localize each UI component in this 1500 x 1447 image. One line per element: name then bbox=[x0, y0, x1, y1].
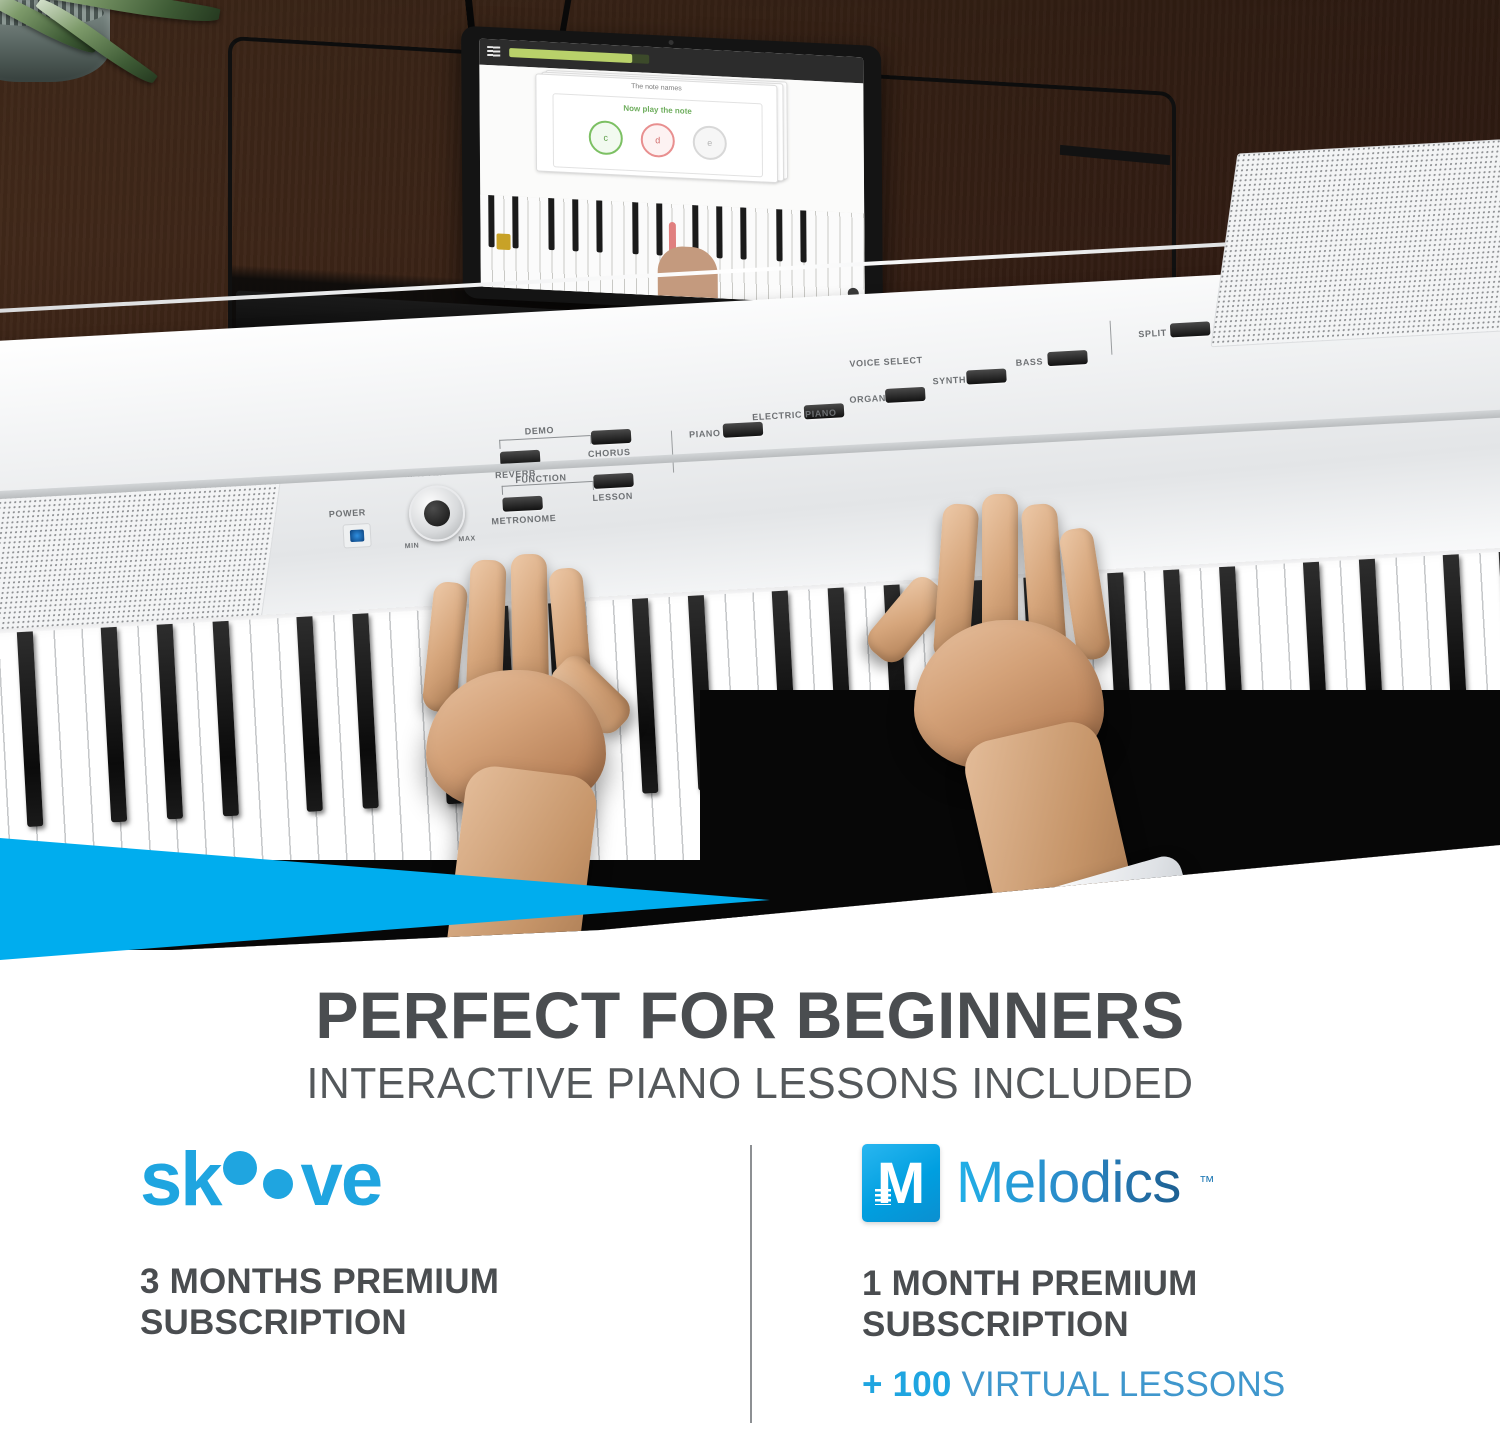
skoove-logo-text-end: ve bbox=[301, 1142, 382, 1218]
split-label: SPLIT bbox=[1138, 328, 1167, 340]
text-content: PERFECT FOR BEGINNERS INTERACTIVE PIANO … bbox=[0, 960, 1500, 1447]
skoove-logo-dots bbox=[223, 1151, 297, 1201]
chorus-button[interactable] bbox=[591, 429, 632, 445]
skoove-offer-description: 3 MONTHS PREMIUM SUBSCRIPTION bbox=[140, 1262, 780, 1344]
page-subtitle: INTERACTIVE PIANO LESSONS INCLUDED bbox=[23, 1062, 1478, 1106]
melodics-bonus-line: + 100 VIRTUAL LESSONS bbox=[862, 1366, 1500, 1405]
skoove-logo-text-start: sk bbox=[140, 1142, 221, 1218]
product-photo: The note names Now play the note c d e bbox=[0, 0, 1500, 950]
melodics-logo-mark-icon: M bbox=[862, 1144, 940, 1222]
melodics-logo: M Melodics ™ bbox=[862, 1140, 1215, 1236]
lesson-button[interactable] bbox=[593, 473, 634, 489]
voice-label-organ: ORGAN bbox=[849, 393, 886, 405]
melodics-wordmark: Melodics bbox=[956, 1154, 1181, 1212]
voice-button-bass[interactable] bbox=[1047, 350, 1088, 366]
lesson-prompt-text: Now play the note bbox=[554, 100, 762, 119]
melodics-bonus-count: 100 bbox=[893, 1365, 952, 1404]
demo-label: DEMO bbox=[524, 425, 554, 437]
speaker-grille-right bbox=[1210, 136, 1500, 347]
product-marketing-image: The note names Now play the note c d e bbox=[0, 0, 1500, 1447]
voice-label-bass: BASS bbox=[1015, 356, 1043, 367]
menu-icon[interactable] bbox=[487, 46, 500, 58]
page-title: PERFECT FOR BEGINNERS bbox=[15, 982, 1485, 1048]
metronome-button[interactable] bbox=[502, 496, 543, 512]
note-button-d[interactable]: d bbox=[641, 122, 675, 158]
note-button-c[interactable]: c bbox=[589, 120, 623, 156]
skoove-dot-small-icon bbox=[263, 1169, 293, 1199]
power-label: POWER bbox=[329, 507, 367, 519]
offers-section: sk ve 3 MONTHS PREMIUM SUBSCRIPTION bbox=[0, 1140, 1500, 1440]
melodics-offer-line2: SUBSCRIPTION bbox=[862, 1305, 1500, 1346]
skoove-offer-line1: 3 MONTHS PREMIUM bbox=[140, 1262, 780, 1303]
tablet-camera-icon bbox=[669, 40, 674, 45]
voice-label-piano: PIANO bbox=[689, 428, 721, 440]
voice-button-piano[interactable] bbox=[723, 422, 764, 438]
skoove-offer-line2: SUBSCRIPTION bbox=[140, 1303, 780, 1344]
skoove-dot-large-icon bbox=[223, 1151, 257, 1185]
melodics-bonus-prefix: + bbox=[862, 1365, 883, 1404]
split-button[interactable] bbox=[1170, 321, 1211, 337]
melodics-offer-line1: 1 MONTH PREMIUM bbox=[862, 1264, 1500, 1305]
voice-label-synth: SYNTH bbox=[932, 375, 966, 387]
master-max-label: MAX bbox=[458, 535, 476, 543]
voice-button-synth[interactable] bbox=[966, 368, 1007, 384]
melodics-equalizer-bars-icon bbox=[875, 1189, 891, 1205]
voice-button-organ[interactable] bbox=[885, 387, 926, 403]
lesson-progress-bar bbox=[509, 48, 649, 64]
skoove-logo: sk ve bbox=[140, 1140, 381, 1236]
melodics-trademark-symbol: ™ bbox=[1199, 1174, 1215, 1192]
melodics-offer-description: 1 MONTH PREMIUM SUBSCRIPTION bbox=[862, 1264, 1500, 1346]
melodics-bonus-label: VIRTUAL LESSONS bbox=[962, 1365, 1286, 1404]
power-button[interactable] bbox=[342, 523, 371, 548]
master-min-label: MIN bbox=[405, 542, 420, 550]
